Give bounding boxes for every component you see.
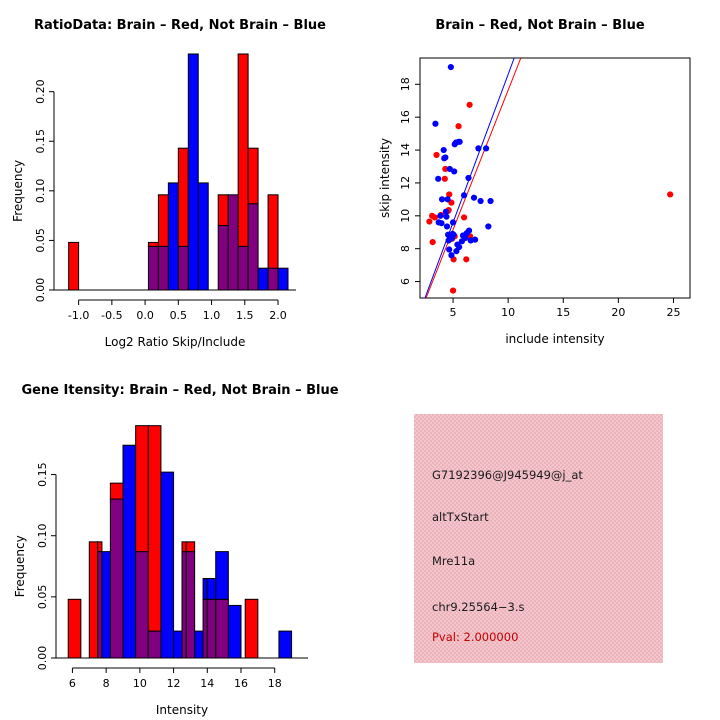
y-tick-label: 0.15 bbox=[34, 129, 47, 154]
scatter-point-brain bbox=[667, 191, 673, 197]
y-tick-label: 10 bbox=[399, 209, 412, 223]
hist-bar-overlap bbox=[178, 246, 188, 290]
x-tick-label: 6 bbox=[69, 677, 76, 690]
hist-bar-overlap bbox=[182, 552, 186, 658]
x-tick-label: -0.5 bbox=[101, 309, 122, 322]
y-tick-label: 0.00 bbox=[34, 278, 47, 303]
y-axis-label: skip intensity bbox=[378, 138, 392, 218]
hist-bar-overlap bbox=[207, 599, 215, 658]
panel-gene-histogram: Gene Itensity: Brain – Red, Not Brain – … bbox=[0, 360, 360, 720]
x-tick-label: 14 bbox=[200, 677, 214, 690]
x-tick-label: 8 bbox=[103, 677, 110, 690]
hist-bar-brain bbox=[98, 542, 102, 552]
x-axis-label: Intensity bbox=[156, 703, 208, 717]
panel-scatter: Brain – Red, Not Brain – Blue 6810121416… bbox=[360, 0, 720, 360]
hist-bar-brain bbox=[69, 242, 79, 290]
scatter-point-notbrain bbox=[439, 196, 445, 202]
hist-bar-overlap bbox=[218, 226, 228, 290]
locus-label: chr9.25564−3.s bbox=[432, 600, 525, 614]
hist-bar-overlap bbox=[268, 268, 278, 290]
scatter-point-brain bbox=[426, 218, 432, 224]
scatter-point-notbrain bbox=[448, 252, 454, 258]
x-tick-label: 1.0 bbox=[203, 309, 221, 322]
y-tick-label: 0.05 bbox=[36, 585, 49, 610]
x-tick-label: 2.0 bbox=[269, 309, 287, 322]
scatter-point-brain bbox=[463, 256, 469, 262]
x-axis-label: Log2 Ratio Skip/Include bbox=[105, 335, 246, 349]
hist-bar-overlap bbox=[238, 246, 248, 290]
hist-bar-brain bbox=[245, 599, 258, 658]
y-tick-label: 0.10 bbox=[34, 179, 47, 204]
hist-bar-notbrain bbox=[207, 579, 215, 600]
scatter-point-notbrain bbox=[444, 223, 450, 229]
histogram-bars bbox=[69, 54, 288, 290]
x-axis: -1.0-0.50.00.51.01.52.0Log2 Ratio Skip/I… bbox=[68, 300, 287, 349]
hist-bar-brain bbox=[136, 426, 149, 552]
hist-bar-overlap bbox=[158, 246, 168, 290]
scatter-point-notbrain bbox=[442, 154, 448, 160]
scatter-point-notbrain bbox=[448, 64, 454, 70]
hist-bar-overlap bbox=[216, 599, 229, 658]
hist-bar-brain bbox=[68, 599, 81, 658]
hist-bar-brain bbox=[218, 195, 228, 226]
x-tick-label: -1.0 bbox=[68, 309, 89, 322]
probe-id-label: G7192396@J945949@j_at bbox=[432, 468, 583, 482]
hist-bar-brain bbox=[158, 195, 168, 247]
y-tick-label: 6 bbox=[399, 278, 412, 285]
hist-bar-overlap bbox=[203, 599, 207, 658]
scatter-point-notbrain bbox=[450, 219, 456, 225]
x-tick-label: 5 bbox=[450, 306, 457, 319]
scatter-point-brain bbox=[466, 102, 472, 108]
scatter-point-brain bbox=[450, 288, 456, 294]
scatter-point-brain bbox=[455, 123, 461, 129]
x-tick-label: 1.5 bbox=[236, 309, 254, 322]
x-tick-label: 25 bbox=[666, 306, 680, 319]
gene-info-panel: G7192396@J945949@j_at altTxStart Mre11a … bbox=[414, 414, 663, 663]
hist-bar-notbrain bbox=[168, 183, 178, 290]
hist-bar-overlap bbox=[110, 499, 123, 658]
scatter-point-notbrain bbox=[483, 145, 489, 151]
y-tick-label: 16 bbox=[399, 110, 412, 124]
plot-frame bbox=[420, 58, 690, 298]
scatter-point-notbrain bbox=[435, 176, 441, 182]
hist-bar-notbrain bbox=[195, 631, 203, 658]
scatter-point-notbrain bbox=[461, 192, 467, 198]
x-tick-label: 18 bbox=[268, 677, 282, 690]
scatter-point-notbrain bbox=[451, 168, 457, 174]
y-tick-label: 18 bbox=[399, 77, 412, 91]
hist-bar-brain bbox=[182, 542, 186, 552]
scatter-point-notbrain bbox=[457, 139, 463, 145]
scatter-point-brain bbox=[432, 214, 438, 220]
y-tick-label: 8 bbox=[399, 245, 412, 252]
hist-bar-notbrain bbox=[123, 445, 136, 658]
hist-bar-brain bbox=[148, 426, 161, 631]
scatter-point-notbrain bbox=[475, 145, 481, 151]
hist-bar-notbrain bbox=[203, 579, 207, 600]
scatter-point-brain bbox=[430, 239, 436, 245]
scatter-point-notbrain bbox=[465, 175, 471, 181]
y-tick-label: 12 bbox=[399, 176, 412, 190]
scatter-point-notbrain bbox=[443, 214, 449, 220]
hist-bar-notbrain bbox=[188, 54, 198, 290]
x-axis: 681012141618Intensity bbox=[69, 668, 282, 717]
hist-bar-overlap bbox=[186, 552, 194, 658]
y-axis-label: Frequency bbox=[13, 535, 27, 597]
scatter-point-notbrain bbox=[485, 223, 491, 229]
hist-bar-notbrain bbox=[198, 183, 208, 290]
scatter-point-notbrain bbox=[471, 195, 477, 201]
x-tick-label: 10 bbox=[133, 677, 147, 690]
x-axis: 510152025include intensity bbox=[450, 298, 681, 346]
scatter-point-notbrain bbox=[446, 246, 452, 252]
hist-bar-overlap bbox=[148, 246, 158, 290]
scatter-point-notbrain bbox=[456, 244, 462, 250]
y-tick-label: 14 bbox=[399, 143, 412, 157]
scatter-point-brain bbox=[442, 176, 448, 182]
scatter-point-brain bbox=[461, 214, 467, 220]
hist-bar-notbrain bbox=[161, 472, 174, 658]
x-tick-label: 0.0 bbox=[136, 309, 154, 322]
hist-bar-brain bbox=[248, 148, 258, 204]
data-points bbox=[426, 64, 673, 294]
y-tick-label: 0.10 bbox=[36, 523, 49, 548]
r-multipanel-figure: RatioData: Brain – Red, Not Brain – Blue… bbox=[0, 0, 720, 720]
hist-bar-brain bbox=[268, 195, 278, 268]
scatter-point-notbrain bbox=[466, 228, 472, 234]
scatter-point-notbrain bbox=[437, 213, 443, 219]
x-tick-label: 15 bbox=[556, 306, 570, 319]
hist-bar-overlap bbox=[248, 204, 258, 290]
y-axis-label: Frequency bbox=[11, 160, 25, 222]
scatter-point-brain bbox=[433, 152, 439, 158]
y-tick-label: 0.05 bbox=[34, 228, 47, 253]
y-axis: 0.000.050.100.15Frequency bbox=[13, 462, 56, 670]
y-axis: 0.000.050.100.150.20Frequency bbox=[11, 79, 54, 302]
histogram-bars bbox=[68, 426, 291, 658]
hist-bar-brain bbox=[186, 542, 194, 552]
hist-bar-notbrain bbox=[174, 631, 182, 658]
gene-histogram-plot: 0.000.050.100.15Frequency681012141618Int… bbox=[0, 390, 360, 720]
x-tick-label: 0.5 bbox=[170, 309, 188, 322]
scatter-point-notbrain bbox=[472, 237, 478, 243]
scatter-point-notbrain bbox=[478, 198, 484, 204]
gene-name-label: Mre11a bbox=[432, 554, 475, 568]
hist-bar-brain bbox=[89, 542, 97, 658]
x-tick-label: 10 bbox=[501, 306, 515, 319]
pval-label: Pval: 2.000000 bbox=[432, 630, 518, 644]
hist-bar-overlap bbox=[228, 195, 238, 290]
scatter-point-notbrain bbox=[432, 121, 438, 127]
hist-bar-notbrain bbox=[258, 268, 268, 290]
x-axis-label: include intensity bbox=[505, 332, 604, 346]
scatter-point-notbrain bbox=[451, 232, 457, 238]
x-tick-label: 20 bbox=[611, 306, 625, 319]
ratio-histogram-plot: 0.000.050.100.150.20Frequency-1.0-0.50.0… bbox=[0, 20, 360, 360]
hist-bar-overlap bbox=[148, 631, 161, 658]
x-tick-label: 12 bbox=[167, 677, 181, 690]
scatter-point-notbrain bbox=[444, 196, 450, 202]
hist-bar-brain bbox=[238, 54, 248, 246]
hist-bar-brain bbox=[148, 242, 158, 246]
y-axis: 681012141618skip intensity bbox=[378, 77, 420, 285]
x-tick-label: 16 bbox=[234, 677, 248, 690]
hist-bar-brain bbox=[110, 483, 123, 499]
hist-bar-notbrain bbox=[102, 552, 110, 658]
y-tick-label: 0.15 bbox=[36, 462, 49, 487]
hist-bar-notbrain bbox=[228, 605, 241, 658]
scatter-point-notbrain bbox=[441, 147, 447, 153]
panel-ratio-histogram: RatioData: Brain – Red, Not Brain – Blue… bbox=[0, 0, 360, 360]
y-tick-label: 0.20 bbox=[34, 79, 47, 104]
hist-bar-notbrain bbox=[279, 631, 292, 658]
scatter-point-notbrain bbox=[438, 220, 444, 226]
scatter-point-notbrain bbox=[487, 198, 493, 204]
y-tick-label: 0.00 bbox=[36, 646, 49, 671]
hist-bar-overlap bbox=[136, 552, 149, 658]
scatter-plot: 681012141618skip intensity510152025inclu… bbox=[360, 20, 720, 360]
hist-bar-notbrain bbox=[278, 268, 288, 290]
hist-bar-brain bbox=[178, 148, 188, 246]
event-type-label: altTxStart bbox=[432, 510, 489, 524]
hist-bar-notbrain bbox=[216, 552, 229, 600]
hist-bar-overlap bbox=[98, 552, 102, 658]
